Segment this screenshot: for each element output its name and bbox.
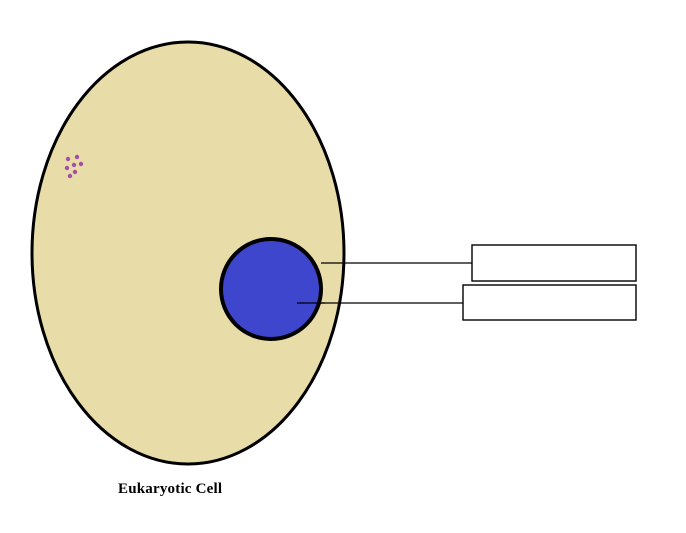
granule-dot — [79, 162, 83, 166]
granule-dot — [75, 155, 79, 159]
label-box-bottom[interactable] — [463, 285, 636, 320]
granule-dot — [66, 157, 70, 161]
label-box-top[interactable] — [472, 245, 636, 281]
eukaryotic-cell-diagram — [0, 0, 686, 533]
nucleus[interactable] — [221, 239, 321, 339]
page-title: Eukaryotic Cell — [118, 481, 222, 498]
granule-dot — [72, 163, 76, 167]
granule-dot — [73, 170, 77, 174]
label-box-bottom-rect[interactable] — [463, 285, 636, 320]
diagram-canvas: Eukaryotic Cell — [0, 0, 686, 533]
granule-dot — [68, 174, 72, 178]
label-box-top-rect[interactable] — [472, 245, 636, 281]
granule-dot — [65, 166, 69, 170]
